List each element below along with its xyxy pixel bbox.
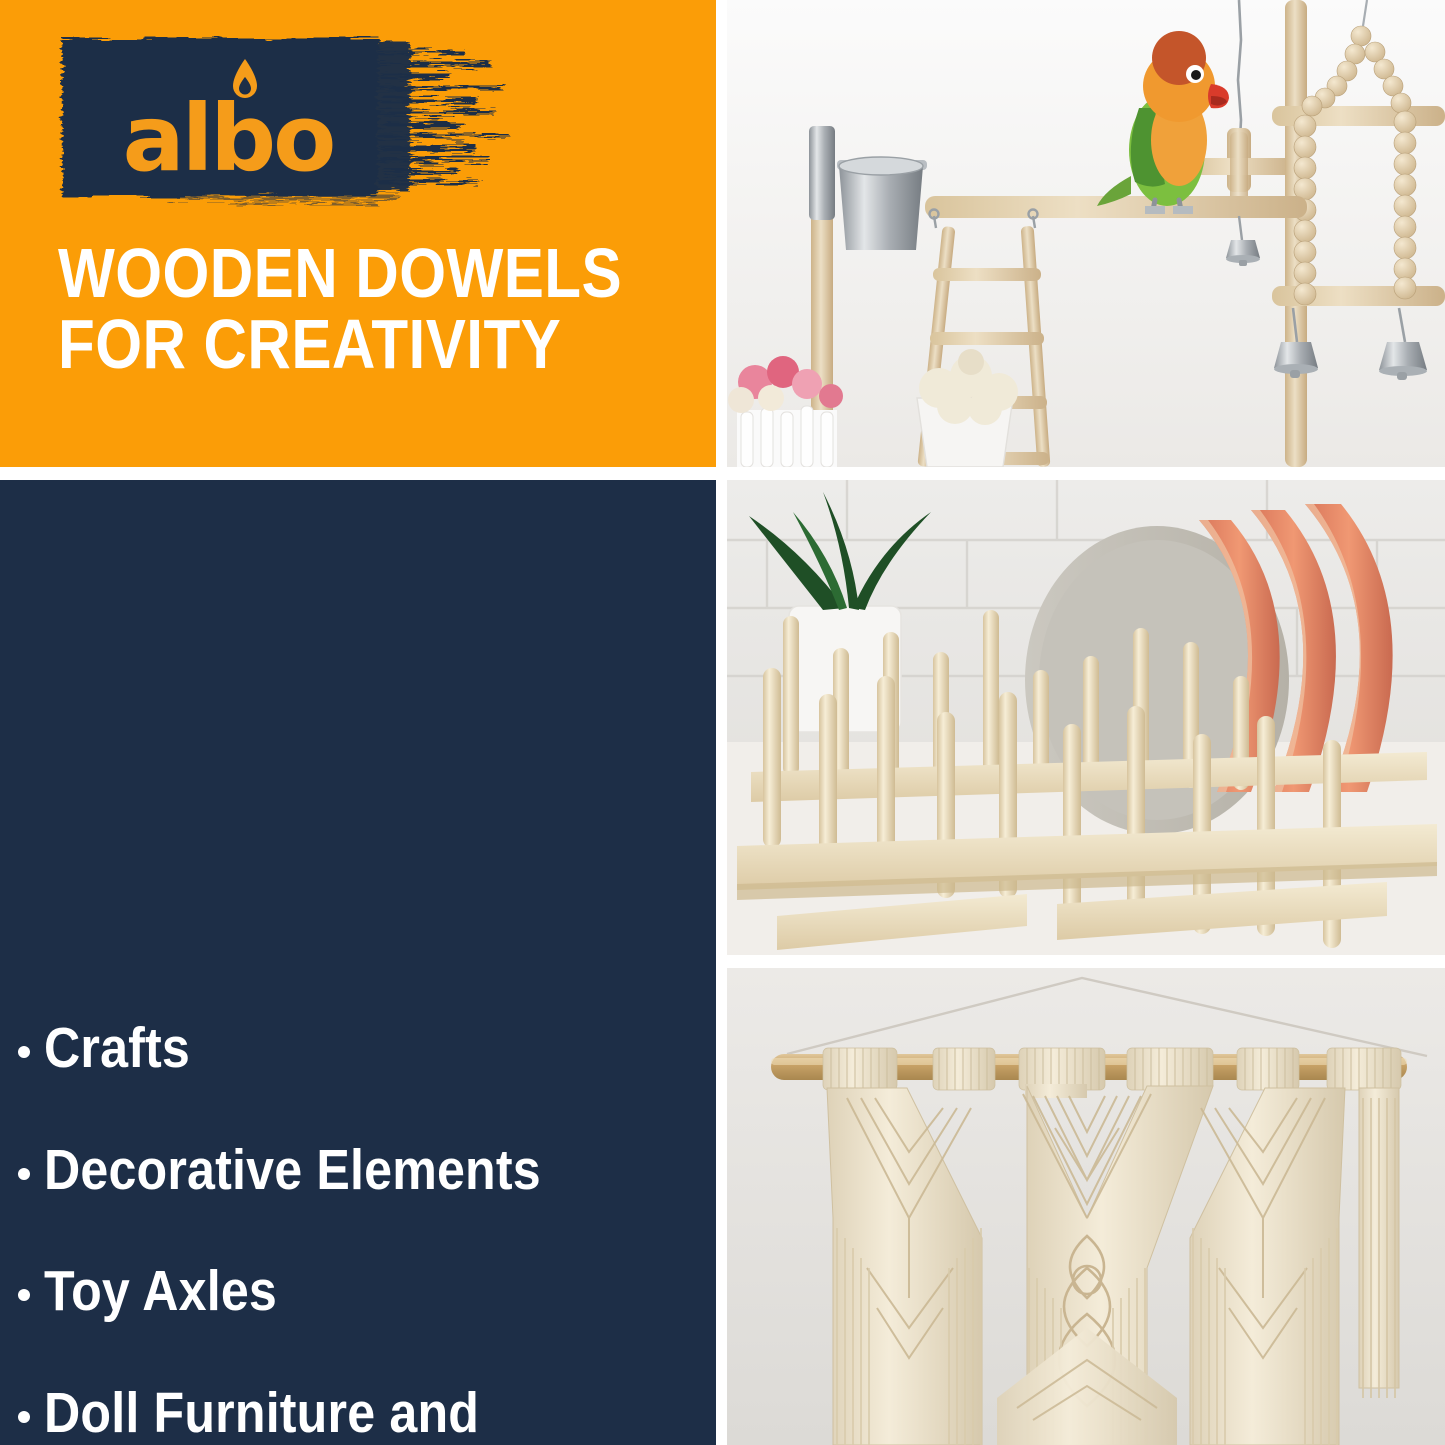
- bullet-dot-icon: [18, 1411, 30, 1423]
- product-photo-bird-play-stand: [727, 0, 1445, 467]
- brand-logo: albo: [48, 28, 518, 210]
- list-item-label: Doll Furniture and Any Other Craft Eleme…: [44, 1383, 635, 1445]
- product-photo-macrame-wall-hanging: [727, 968, 1445, 1445]
- product-infographic: albo WOODEN DOWELS FOR CREATIVITY Crafts…: [0, 0, 1445, 1445]
- header-panel: albo WOODEN DOWELS FOR CREATIVITY: [0, 0, 716, 467]
- bullet-dot-icon: [18, 1168, 30, 1180]
- headline-line-1: WOODEN DOWELS: [58, 238, 608, 309]
- list-item-label: Toy Axles: [44, 1261, 277, 1323]
- list-item: Decorative Elements: [12, 1140, 716, 1202]
- list-item: Toy Axles: [12, 1261, 716, 1323]
- bullet-dot-icon: [18, 1046, 30, 1058]
- list-item: Crafts: [12, 1018, 716, 1080]
- uses-panel: Crafts Decorative Elements Toy Axles Dol…: [0, 480, 716, 1445]
- logo-lockup: albo: [48, 28, 518, 210]
- headline-line-2: FOR CREATIVITY: [58, 309, 608, 380]
- product-photo-wooden-plate-rack: [727, 480, 1445, 955]
- logo-wordmark: albo: [123, 98, 334, 181]
- bullet-dot-icon: [18, 1289, 30, 1301]
- page-title: WOODEN DOWELS FOR CREATIVITY: [58, 238, 608, 381]
- list-item: Doll Furniture and Any Other Craft Eleme…: [12, 1383, 716, 1445]
- list-item-label: Decorative Elements: [44, 1140, 541, 1202]
- uses-list: Crafts Decorative Elements Toy Axles Dol…: [12, 1018, 716, 1445]
- list-item-label: Crafts: [44, 1018, 190, 1080]
